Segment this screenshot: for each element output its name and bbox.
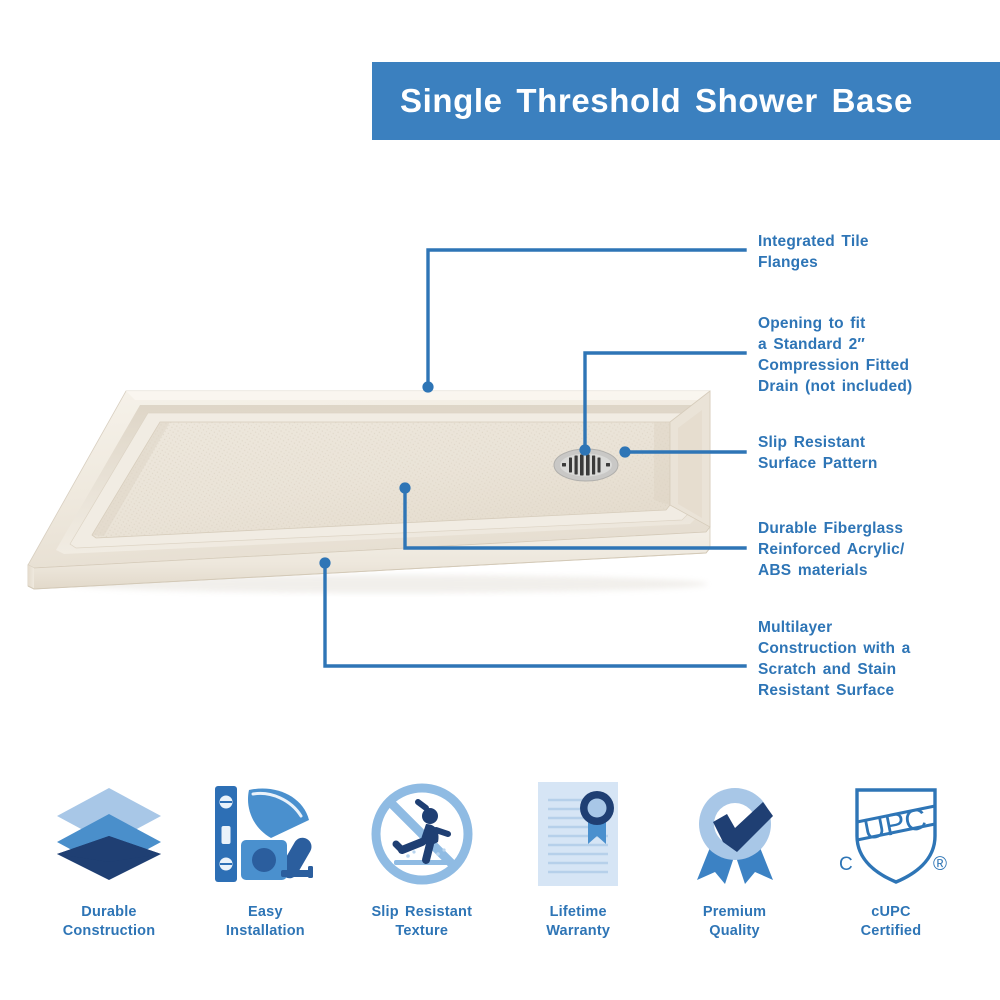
leader-line-flanges <box>428 250 745 387</box>
callout-label-drain-opening: Opening to fit a Standard 2″ Compression… <box>758 313 1000 397</box>
feature-caption: cUPC Certified <box>861 903 922 941</box>
certificate-icon <box>528 775 628 893</box>
feature-strip: Durable Construction <box>0 775 1000 975</box>
feature-durable-construction: Durable Construction <box>34 775 184 941</box>
callout-label-slip-resistant-surface: Slip Resistant Surface Pattern <box>758 432 993 474</box>
shower-base-illustration <box>18 372 718 597</box>
callout-label-durable-fiberglass: Durable Fiberglass Reinforced Acrylic/ A… <box>758 518 998 581</box>
feature-caption: Easy Installation <box>226 903 305 941</box>
feature-caption: Lifetime Warranty <box>546 903 610 941</box>
title-banner: Single Threshold Shower Base <box>372 62 1000 140</box>
callout-label-integrated-tile-flanges: Integrated Tile Flanges <box>758 231 993 273</box>
rosette-check-icon <box>683 775 787 893</box>
drain-grate <box>554 449 618 481</box>
upc-registered-mark: ® <box>933 854 947 875</box>
feature-caption: Slip Resistant Texture <box>371 903 472 941</box>
stacked-layers-icon <box>53 775 165 893</box>
no-slip-icon <box>368 775 476 893</box>
feature-cupc-certified: UPC C ® cUPC Certified <box>816 775 966 941</box>
feature-premium-quality: Premium Quality <box>660 775 810 941</box>
feature-lifetime-warranty: Lifetime Warranty <box>503 775 653 941</box>
feature-caption: Durable Construction <box>63 903 156 941</box>
upc-shield-icon: UPC C ® <box>831 775 951 893</box>
upc-left-mark: C <box>839 854 853 875</box>
callout-label-multilayer-construction: Multilayer Construction with a Scratch a… <box>758 617 998 701</box>
feature-easy-installation: Easy Installation <box>190 775 340 941</box>
feature-slip-resistant-texture: Slip Resistant Texture <box>347 775 497 941</box>
level-trowel-icon <box>209 775 321 893</box>
page-title: Single Threshold Shower Base <box>400 82 913 120</box>
product-infographic-page: Single Threshold Shower Base <box>0 0 1000 1000</box>
feature-caption: Premium Quality <box>703 903 766 941</box>
